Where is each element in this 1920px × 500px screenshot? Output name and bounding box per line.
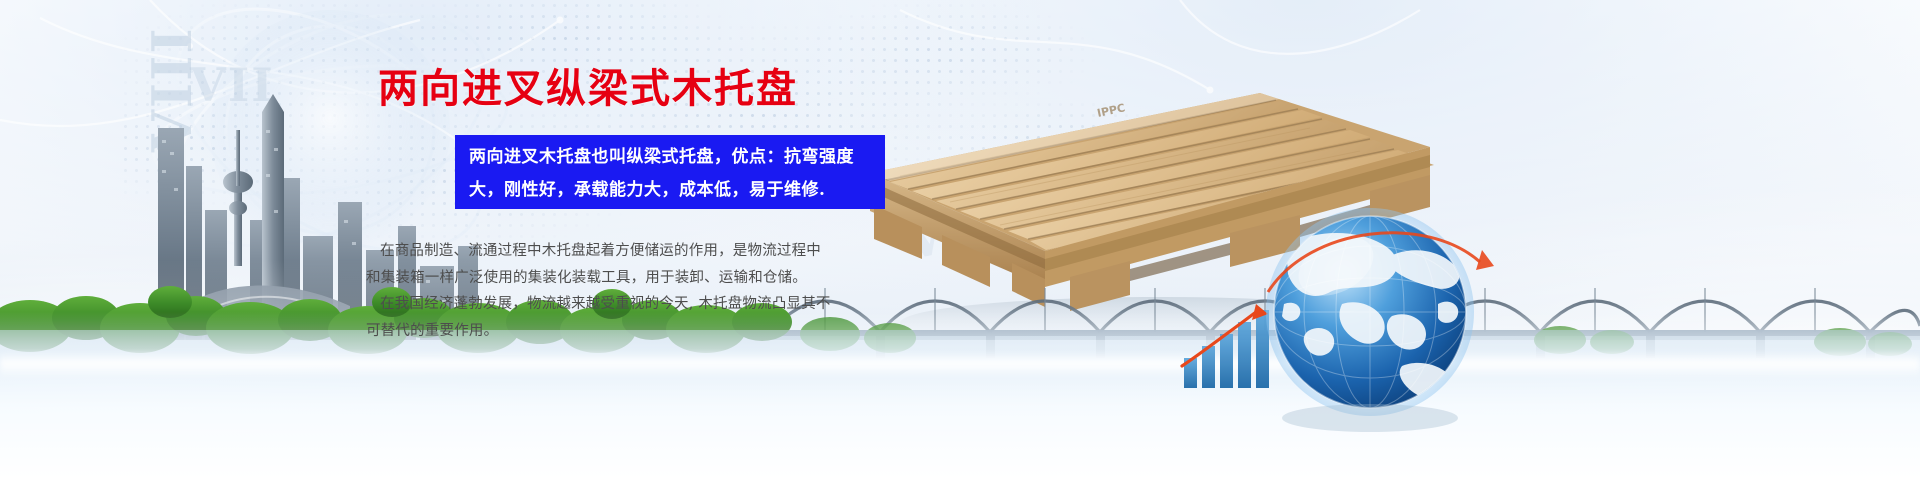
watermark-roman-2: VII <box>190 58 275 112</box>
page-title: 两向进叉纵梁式木托盘 <box>378 56 798 114</box>
description-line-4: 可替代的重要作用。 <box>366 318 856 345</box>
description-line-2: 和集装箱一样广泛使用的集装化装载工具，用于装卸、运输和仓储。 <box>366 265 856 292</box>
highlight-line-1: 两向进叉木托盘也叫纵梁式托盘，优点：抗弯强度 <box>469 141 873 174</box>
water-reflection-band <box>0 330 1920 500</box>
product-banner: VIII VII VI <box>0 0 1920 500</box>
water-highlight-streak <box>0 352 1920 378</box>
highlight-callout-box: 两向进叉木托盘也叫纵梁式托盘，优点：抗弯强度 大，刚性好，承载能力大，成本低，易… <box>455 135 885 209</box>
pallet-stencil-mark: IPPC <box>1096 101 1126 120</box>
earth-globe-graphic <box>1250 200 1510 450</box>
growth-bar-chart <box>1178 300 1288 380</box>
description-paragraph: 在商品制造、流通过程中木托盘起着方便储运的作用，是物流过程中 和集装箱一样广泛使… <box>366 238 856 344</box>
description-line-3: 在我国经济蓬勃发展，物流越来越受重视的今天, 木托盘物流凸显其不 <box>366 291 856 318</box>
description-line-1: 在商品制造、流通过程中木托盘起着方便储运的作用，是物流过程中 <box>366 238 856 265</box>
highlight-line-2: 大，刚性好，承载能力大，成本低，易于维修. <box>469 174 873 207</box>
green-tree-row <box>0 272 1920 364</box>
watermark-roman-3: VI <box>894 191 985 276</box>
